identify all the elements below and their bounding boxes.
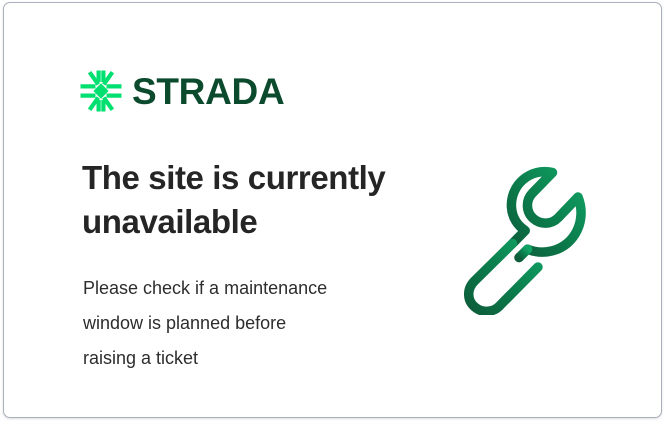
description-line: raising a ticket: [83, 341, 393, 376]
page-content: STRADA The site is currently unavailable…: [4, 3, 661, 417]
description-line: Please check if a maintenance: [83, 271, 393, 306]
strada-asterisk-icon: [79, 69, 123, 113]
brand-logo: STRADA: [79, 69, 284, 113]
description-line: window is planned before: [83, 306, 393, 341]
status-page-card: STRADA The site is currently unavailable…: [3, 2, 662, 418]
brand-wordmark: STRADA: [132, 73, 284, 110]
page-title: The site is currently unavailable: [82, 156, 442, 243]
page-description: Please check if a maintenance window is …: [83, 271, 393, 376]
